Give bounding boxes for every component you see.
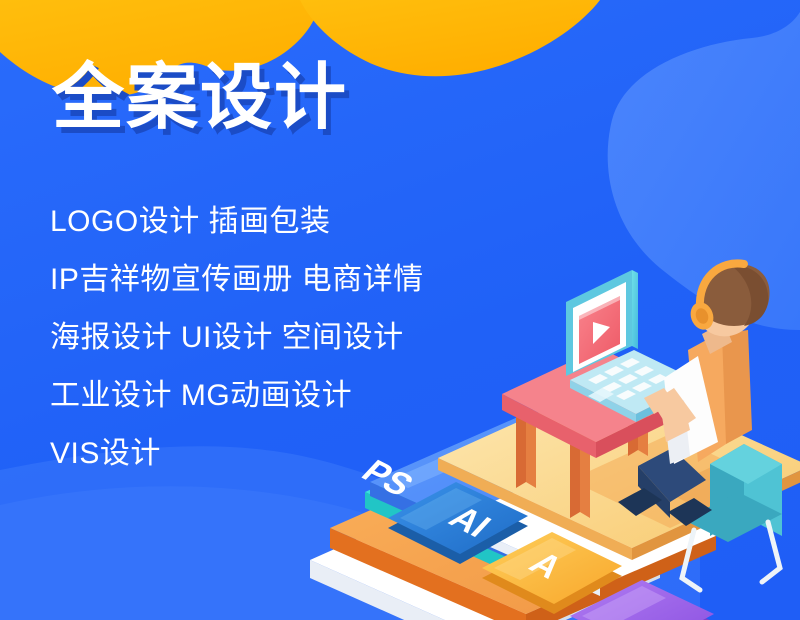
page-title: 全案设计 (52, 62, 348, 134)
designer-illustration: PS AI A (270, 230, 800, 620)
promo-banner: 全案设计 LOGO设计 插画包装 IP吉祥物宣传画册 电商详情 海报设计 UI设… (0, 0, 800, 620)
